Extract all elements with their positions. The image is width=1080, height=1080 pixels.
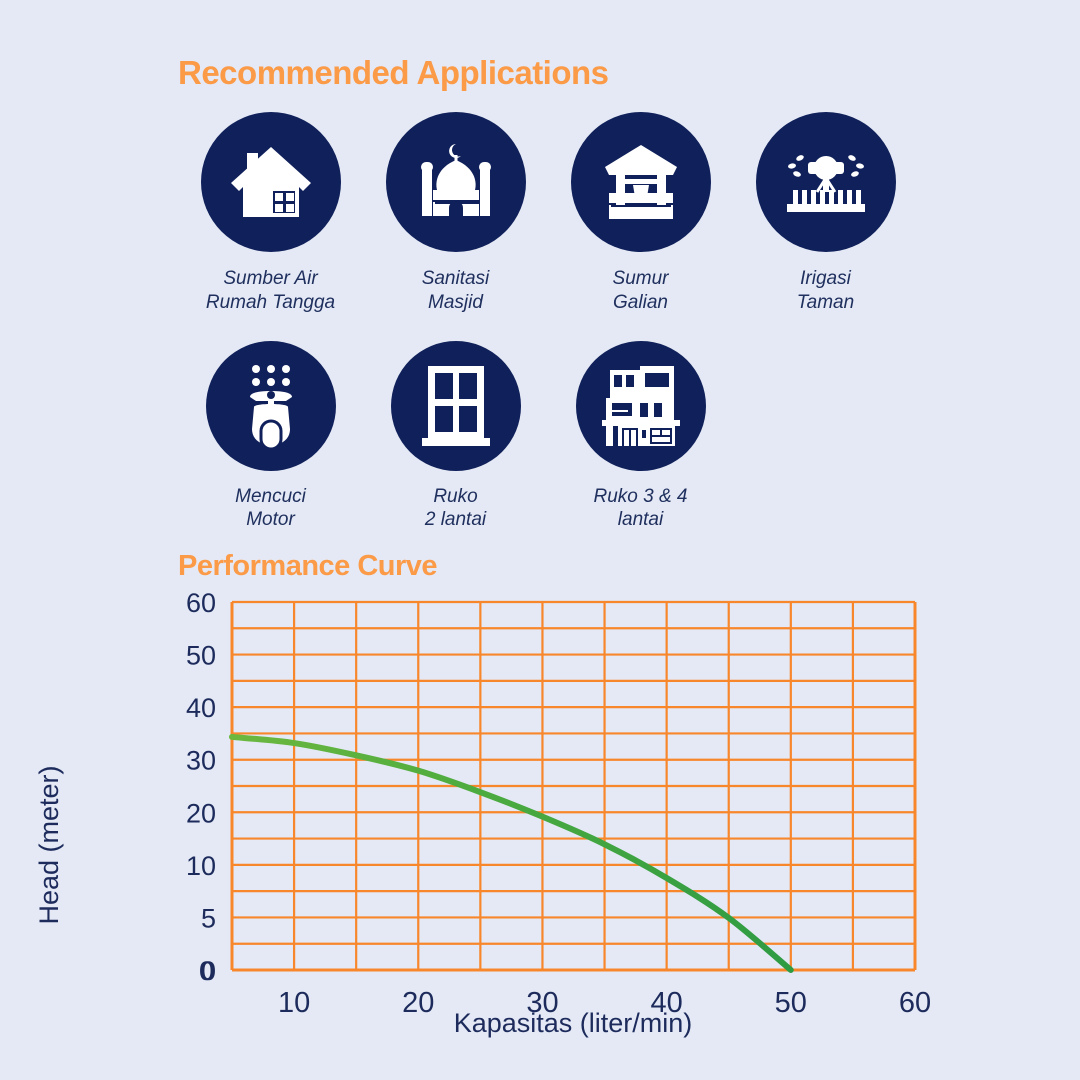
x-tick-label: 50 [775,987,807,1019]
chart-curve [232,737,791,970]
icon-circle [386,112,526,252]
mosque-icon [415,142,497,222]
application-label: Irigasi Taman [797,267,854,315]
y-tick-label: 5 [201,903,216,933]
shophouse-34-icon [598,364,684,448]
applications-grid: Sumber Air Rumah Tangga S [178,112,918,532]
icon-circle [206,341,336,471]
performance-chart: 60504030201050 0102030405060 Head (meter… [0,590,1080,1060]
chart-canvas: 60504030201050 0102030405060 Head (meter… [0,590,1080,1060]
application-item-sumur-galian[interactable]: Sumur Galian [548,112,733,315]
applications-row-1: Sumber Air Rumah Tangga S [178,112,918,315]
application-label: Sumur Galian [613,267,669,315]
chart-y-axis-title: Head (meter) [34,765,64,924]
y-tick-label: 60 [186,590,216,618]
x-origin-label: 0 [199,956,214,986]
shophouse-2-icon [418,364,494,448]
application-label: Sanitasi Masjid [422,267,490,315]
sprinkler-icon [783,146,869,218]
page-title: Recommended Applications [178,54,609,92]
application-label: Sumber Air Rumah Tangga [206,267,335,315]
chart-title: Performance Curve [178,550,437,583]
application-label: Ruko 2 lantai [425,485,486,533]
y-tick-label: 10 [186,851,216,881]
icon-circle [391,341,521,471]
application-item-mencuci-motor[interactable]: Mencuci Motor [178,341,363,533]
application-item-sanitasi-masjid[interactable]: Sanitasi Masjid [363,112,548,315]
curve-path [232,737,791,970]
icon-circle [576,341,706,471]
scooter-icon [236,363,306,449]
icon-circle [756,112,896,252]
application-label: Ruko 3 & 4 lantai [594,485,688,533]
application-item-irigasi-taman[interactable]: Irigasi Taman [733,112,918,315]
application-label: Mencuci Motor [235,485,306,533]
y-tick-label: 50 [186,641,216,671]
y-tick-label: 40 [186,693,216,723]
application-item-ruko-2-lantai[interactable]: Ruko 2 lantai [363,341,548,533]
application-item-sumber-air[interactable]: Sumber Air Rumah Tangga [178,112,363,315]
chart-y-tick-labels: 60504030201050 [186,590,216,986]
y-tick-label: 20 [186,798,216,828]
icon-circle [201,112,341,252]
x-tick-label: 10 [278,987,310,1019]
x-tick-label: 20 [402,987,434,1019]
well-icon [599,143,683,221]
application-item-ruko-3-4-lantai[interactable]: Ruko 3 & 4 lantai [548,341,733,533]
chart-x-axis-title: Kapasitas (liter/min) [454,1008,693,1038]
applications-row-2: Mencuci Motor Ruko 2 lantai [178,341,918,533]
y-tick-label: 30 [186,746,216,776]
icon-circle [571,112,711,252]
x-tick-label: 60 [899,987,931,1019]
chart-gridlines [232,602,915,970]
house-icon [229,143,313,221]
